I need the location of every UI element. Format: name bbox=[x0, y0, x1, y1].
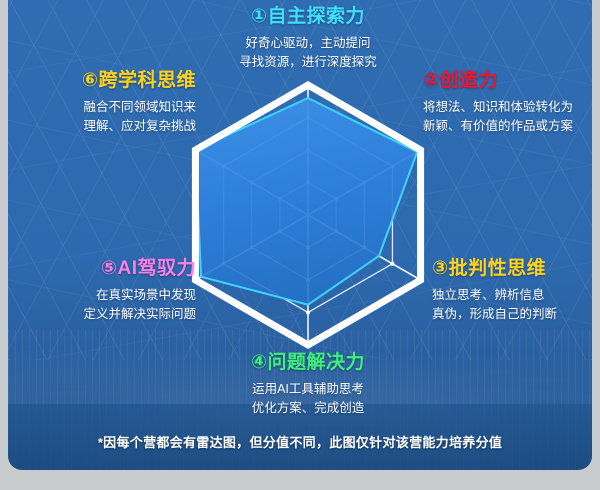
ability-title-1: ①自主探索力 bbox=[208, 6, 408, 28]
ability-sub-1-line2: 寻找资源，进行深度探究 bbox=[208, 53, 408, 72]
ability-label-4: ④问题解决力 运用AI工具辅助思考 优化方案、完成创造 bbox=[208, 352, 408, 419]
poster-panel: ①自主探索力 好奇心驱动，主动提问 寻找资源，进行深度探究 ②创造力 将想法、知… bbox=[8, 0, 592, 470]
ability-sub-2-line2: 新颖、有价值的作品或方案 bbox=[423, 117, 592, 136]
ability-label-2: ②创造力 将想法、知识和体验转化为 新颖、有价值的作品或方案 bbox=[423, 70, 592, 137]
ability-sub-2-line1: 将想法、知识和体验转化为 bbox=[423, 98, 592, 117]
ability-sub-6-line1: 融合不同领域知识来 bbox=[14, 98, 196, 117]
ability-sub-3-line2: 真伪，形成自己的判断 bbox=[432, 305, 592, 324]
ability-sub-2: 将想法、知识和体验转化为 新颖、有价值的作品或方案 bbox=[423, 98, 592, 137]
ability-title-2: ②创造力 bbox=[423, 70, 592, 92]
ability-label-1: ①自主探索力 好奇心驱动，主动提问 寻找资源，进行深度探究 bbox=[208, 6, 408, 73]
ability-label-6: ⑥跨学科思维 融合不同领域知识来 理解、应对复杂挑战 bbox=[14, 70, 196, 137]
screenshot-root: ①自主探索力 好奇心驱动，主动提问 寻找资源，进行深度探究 ②创造力 将想法、知… bbox=[0, 0, 600, 490]
ability-sub-5-line2: 定义并解决实际问题 bbox=[16, 305, 196, 324]
ability-sub-6: 融合不同领域知识来 理解、应对复杂挑战 bbox=[14, 98, 196, 137]
ability-sub-5: 在真实场景中发现 定义并解决实际问题 bbox=[16, 286, 196, 325]
ability-label-3: ③批判性思维 独立思考、辨析信息 真伪，形成自己的判断 bbox=[432, 258, 592, 325]
ability-label-5: ⑤AI驾驭力 在真实场景中发现 定义并解决实际问题 bbox=[16, 258, 196, 325]
ability-sub-3-line1: 独立思考、辨析信息 bbox=[432, 286, 592, 305]
ability-sub-4: 运用AI工具辅助思考 优化方案、完成创造 bbox=[208, 380, 408, 419]
ability-title-4: ④问题解决力 bbox=[208, 352, 408, 374]
ability-sub-1: 好奇心驱动，主动提问 寻找资源，进行深度探究 bbox=[208, 34, 408, 73]
ability-title-3: ③批判性思维 bbox=[432, 258, 592, 280]
footnote-text: *因每个营都会有雷达图，但分值不同，此图仅针对该营能力培养分值 bbox=[8, 432, 592, 451]
ability-sub-1-line1: 好奇心驱动，主动提问 bbox=[208, 34, 408, 53]
ability-title-5: ⑤AI驾驭力 bbox=[16, 258, 196, 280]
ability-sub-3: 独立思考、辨析信息 真伪，形成自己的判断 bbox=[432, 286, 592, 325]
radar-chart bbox=[158, 60, 458, 370]
ability-sub-4-line1: 运用AI工具辅助思考 bbox=[208, 380, 408, 399]
ability-sub-5-line1: 在真实场景中发现 bbox=[16, 286, 196, 305]
ability-sub-6-line2: 理解、应对复杂挑战 bbox=[14, 117, 196, 136]
radar-chart-svg bbox=[158, 60, 458, 370]
ability-sub-4-line2: 优化方案、完成创造 bbox=[208, 399, 408, 418]
ability-title-6: ⑥跨学科思维 bbox=[14, 70, 196, 92]
